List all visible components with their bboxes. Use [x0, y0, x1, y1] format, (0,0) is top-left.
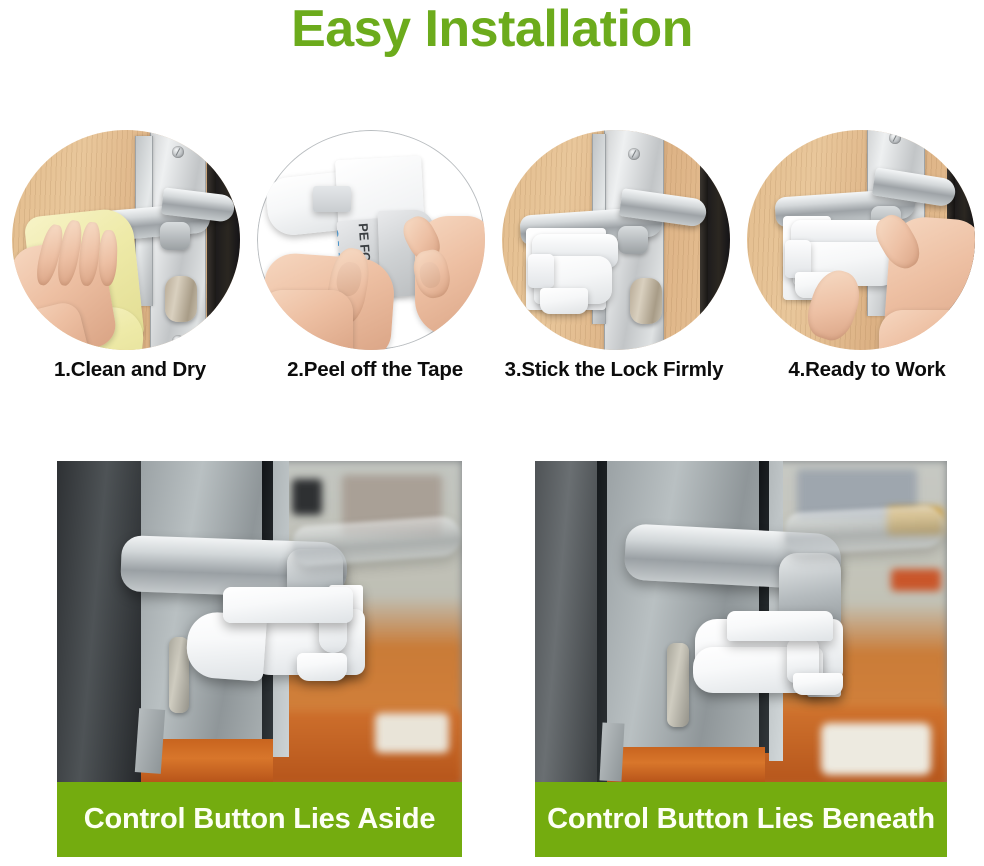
door-jamb-edge	[700, 130, 708, 350]
lock-top-hook	[727, 611, 833, 641]
screw-bottom-icon	[172, 335, 184, 347]
panel-control-button-aside: Control Button Lies Aside	[57, 461, 462, 857]
floor-reflection-blur	[821, 723, 931, 775]
panel-left-photo	[57, 461, 462, 782]
panel-left-caption: Control Button Lies Aside	[84, 803, 436, 836]
lock-lower-foot	[540, 288, 588, 314]
step-4-caption: 4.Ready to Work	[741, 358, 984, 382]
panel-right-caption: Control Button Lies Beneath	[547, 803, 935, 836]
lever-neck	[618, 226, 648, 254]
panel-control-button-beneath: Control Button Lies Beneath	[535, 461, 947, 857]
product-infographic: Easy Installation	[0, 0, 984, 866]
lock-lower-foot	[297, 653, 347, 681]
door-frame-left	[57, 461, 141, 782]
door-bottom-rail	[599, 722, 624, 781]
panel-right-photo	[535, 461, 947, 782]
background-object-blur	[292, 479, 322, 515]
lever-neck	[160, 222, 190, 250]
wrist	[879, 310, 975, 350]
thumbturn-knob	[630, 278, 662, 324]
step-2-photo: 3M PE FOAM	[257, 130, 485, 350]
page-title: Easy Installation	[0, 2, 984, 57]
left-hand-palm	[257, 290, 353, 350]
panel-right-caption-bar: Control Button Lies Beneath	[535, 782, 947, 857]
background-object-blur	[891, 569, 941, 591]
step-3-caption: 3.Stick the Lock Firmly	[488, 358, 740, 382]
door-jamb-edge	[207, 130, 216, 350]
screw-top-icon	[889, 132, 901, 144]
step-2-peel-off-tape: 3M PE FOAM 2.Peel off the Tape	[257, 130, 485, 395]
installation-steps-row: 1.Clean and Dry 3M PE FOAM	[0, 130, 984, 395]
thumbturn-knob	[165, 276, 197, 322]
panel-left-caption-bar: Control Button Lies Aside	[57, 782, 462, 857]
step-1-caption: 1.Clean and Dry	[4, 358, 256, 382]
step-2-caption: 2.Peel off the Tape	[249, 358, 501, 382]
step-3-photo	[502, 130, 730, 350]
step-4-ready-to-work: 4.Ready to Work	[747, 130, 975, 395]
background-handle-blur	[784, 505, 946, 555]
step-1-clean-and-dry: 1.Clean and Dry	[12, 130, 240, 395]
product-photo-panels: Control Button Lies Aside	[0, 461, 984, 861]
step-4-photo	[747, 130, 975, 350]
lock-slot	[313, 186, 351, 212]
screw-top-icon	[628, 148, 640, 160]
lock-lower-foot	[793, 673, 843, 695]
key-cylinder	[667, 643, 689, 727]
lock-top-hook	[223, 587, 353, 623]
step-1-photo	[12, 130, 240, 350]
door-bottom-rail	[135, 708, 165, 774]
step-3-stick-lock-firmly: 3.Stick the Lock Firmly	[502, 130, 730, 395]
floor-under-door	[607, 747, 765, 782]
door-frame-left	[535, 461, 597, 782]
screw-top-icon	[172, 146, 184, 158]
lock-control-button	[528, 254, 554, 288]
floor-reflection-blur	[375, 713, 449, 753]
